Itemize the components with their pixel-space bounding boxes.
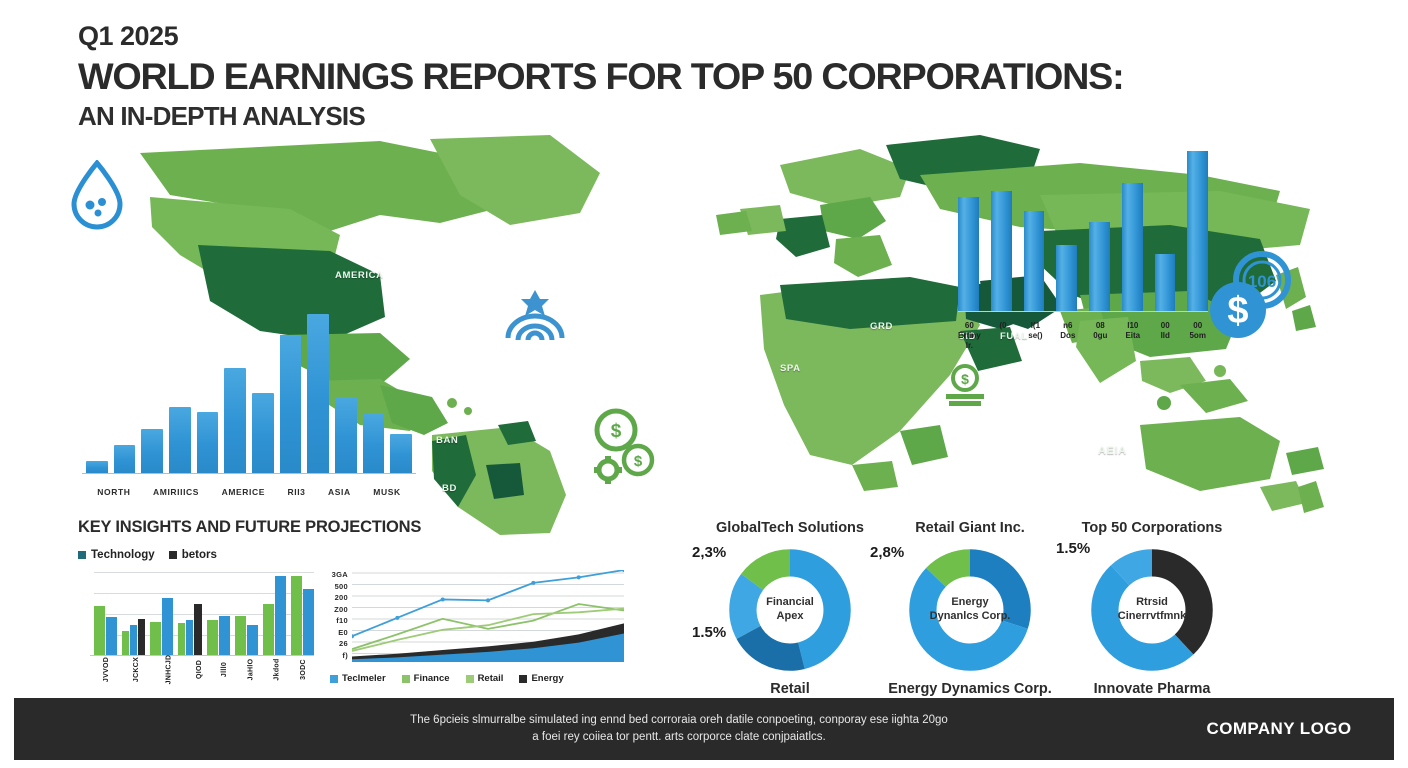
legend-swatch-icon [169, 551, 177, 559]
grouped-tick-label: JCKCX [124, 657, 149, 691]
bar-tick-label: AMIRIIICS [153, 487, 199, 497]
legend-item: Energy [519, 673, 563, 684]
y-tick-label: 500 [322, 582, 348, 591]
bar [106, 617, 117, 655]
data-point [622, 570, 624, 572]
legend-swatch-icon [330, 675, 338, 683]
legend-label: Retail [478, 673, 504, 684]
legend-label: Teclmeler [342, 673, 386, 684]
grouped-tick-labels: JVVODJCKCXJNHCJDQIODJlll0JaHlOJkdod3ODC [94, 657, 314, 691]
legend-item-betors: betors [169, 549, 217, 561]
legend-swatch-icon [519, 675, 527, 683]
bar [235, 616, 246, 655]
bar [224, 368, 246, 473]
infographic-canvas: Q1 2025 WORLD EARNINGS REPORTS FOR TOP 5… [0, 0, 1408, 768]
bar [162, 598, 173, 655]
page-title: WORLD EARNINGS REPORTS FOR TOP 50 CORPOR… [78, 56, 1251, 97]
legend-label: Technology [91, 549, 155, 561]
bar [197, 412, 219, 473]
bar [335, 397, 357, 473]
bar [94, 606, 105, 655]
bar [194, 604, 201, 655]
donut-ring [728, 548, 852, 672]
grouped-tick-label: JNHCJD [154, 657, 184, 691]
data-point [486, 598, 490, 602]
bar-tick-label: (0 [993, 321, 1013, 351]
bar [114, 445, 136, 473]
bar-tick-label: ASIA [328, 487, 351, 497]
bar [207, 620, 218, 655]
axis-baseline [90, 655, 314, 656]
y-tick-label: Z00 [322, 605, 348, 614]
bar-group [235, 568, 258, 655]
line-chart-legend: TeclmelerFinanceRetailEnergy [330, 673, 564, 684]
bar-tick-label: NORTH [97, 487, 130, 497]
bar-group [122, 568, 145, 655]
y-tick-label: E0 [322, 628, 348, 637]
donut-title: Top 50 Corporations [1062, 520, 1242, 536]
money-stack-icon: $ [938, 362, 992, 410]
bar-tick-label: 60Ertiny Ir. [958, 321, 981, 351]
data-point [395, 616, 399, 620]
bar [275, 576, 286, 655]
footer-disclaimer-line1: The 6pcieis slmurralbe simulated ing enn… [194, 712, 1164, 729]
bar [958, 197, 979, 311]
bar-tick-label: 005om [1187, 321, 1207, 351]
bar-group [94, 568, 117, 655]
page-header: Q1 2025 WORLD EARNINGS REPORTS FOR TOP 5… [78, 22, 1228, 130]
donut-annotation-top: 2,8% [870, 544, 904, 561]
svg-text:$: $ [634, 453, 643, 470]
sector-grouped-bar-chart: JVVODJCKCXJNHCJDQIODJlll0JaHlOJkdod3ODC [70, 566, 318, 691]
donut-title: Retail Giant Inc. [880, 520, 1060, 536]
coin-badge-icon: 106 $ [1200, 248, 1300, 348]
bar [141, 429, 163, 473]
bar [178, 623, 185, 655]
bar [263, 604, 274, 655]
legend-item: Retail [466, 673, 504, 684]
bar [1155, 254, 1176, 311]
bar-plot-area [958, 140, 1208, 311]
y-tick-label: f10 [322, 616, 348, 625]
bar [1056, 245, 1077, 311]
donut-title: GlobalTech Solutions [700, 520, 880, 536]
bar-group [150, 568, 173, 655]
svg-text:$: $ [611, 421, 622, 442]
donut-annotation-top: 2,3% [692, 544, 726, 561]
globaltech-donut-chart: GlobalTech Solutions Financial Apex 2,3%… [700, 520, 880, 695]
y-tick-label: 3GA [322, 570, 348, 579]
bar [247, 625, 258, 655]
donut-ring [908, 548, 1032, 672]
legend-swatch-icon [466, 675, 474, 683]
grouped-tick-label: 3ODC [293, 657, 314, 691]
grouped-plot-area [94, 568, 314, 655]
bar-group [291, 568, 314, 655]
bar-group [263, 568, 286, 655]
green-coins-gear-icon: $ $ [588, 404, 660, 488]
grouped-tick-label: JVVOD [94, 657, 119, 691]
bar [991, 191, 1012, 311]
legend-swatch-icon [78, 551, 86, 559]
key-insights-title: KEY INSIGHTS AND FUTURE PROJECTIONS [78, 518, 421, 537]
bar-tick-label: MUSK [373, 487, 400, 497]
legend-label: Energy [531, 673, 563, 684]
bar [86, 461, 108, 473]
bar [122, 631, 129, 655]
bar-plot-area [86, 300, 412, 473]
donut-annotation-top: 1.5% [1056, 540, 1090, 557]
company-logo: COMPANY LOGO [1164, 719, 1394, 739]
footer-disclaimer-line2: a foei rey coiiea tor pentt. arts corpor… [194, 729, 1164, 746]
legend-label: Finance [414, 673, 450, 684]
y-tick-label: f) [322, 651, 348, 660]
coin-badge-currency-text: $ [1227, 290, 1248, 332]
bank-icon [498, 288, 572, 350]
bar-tick-label: 080gu [1090, 321, 1110, 351]
bar [252, 393, 274, 473]
data-point [577, 575, 581, 579]
bar-tick-label: AMERICE [222, 487, 265, 497]
bar-tick-label: l10Eita [1123, 321, 1143, 351]
data-point [441, 597, 445, 601]
bar-group [207, 568, 230, 655]
bar [1122, 183, 1143, 311]
legend-item: Finance [402, 673, 450, 684]
legend-swatch-icon [402, 675, 410, 683]
y-tick-label: 200 [322, 593, 348, 602]
donut-annotation-bottom: 1.5% [692, 624, 726, 641]
bar [1089, 222, 1110, 311]
bar [169, 407, 191, 473]
axis-baseline [82, 473, 416, 475]
bar [186, 620, 193, 655]
bar [150, 622, 161, 655]
bar-tick-label: RII3 [288, 487, 306, 497]
grouped-tick-label: QIOD [189, 657, 209, 691]
data-point [531, 581, 535, 585]
legend-item-technology: Technology [78, 549, 155, 561]
bar [280, 335, 302, 473]
bar-tick-labels: NORTHAMIRIIICSAMERICERII3ASIAMUSK [86, 487, 412, 497]
grouped-tick-label: JaHlO [240, 657, 262, 691]
regional-earnings-bar-chart: NORTHAMIRIIICSAMERICERII3ASIAMUSK [78, 300, 418, 505]
bar-tick-labels: 60Ertiny Ir.(0l(1se()n6Dos080gul10Eita00… [958, 321, 1208, 351]
bar [307, 314, 329, 473]
donut-footer-label: Innovate Pharma [1062, 681, 1242, 697]
footer-disclaimer: The 6pcieis slmurralbe simulated ing enn… [14, 712, 1164, 747]
legend-item: Teclmeler [330, 673, 386, 684]
key-insights-legend: Technology betors [78, 549, 217, 561]
bar [291, 576, 302, 655]
asia-earnings-bar-chart: 60Ertiny Ir.(0l(1se()n6Dos080gul10Eita00… [958, 140, 1208, 355]
bar [138, 619, 145, 655]
axis-baseline [958, 311, 1208, 313]
footer-bar: The 6pcieis slmurralbe simulated ing enn… [14, 698, 1394, 760]
page-subtitle: AN IN-DEPTH ANALYSIS [78, 102, 1228, 131]
bar [390, 434, 412, 473]
bar [130, 625, 137, 655]
line-series [352, 570, 624, 636]
legend-label: betors [182, 549, 217, 561]
grouped-tick-label: Jkdod [266, 657, 288, 691]
grouped-tick-label: Jlll0 [214, 657, 234, 691]
bar [363, 414, 385, 474]
y-tick-label: 26 [322, 639, 348, 648]
retailgiant-donut-chart: Retail Giant Inc. Energy Dynanlcs Corp. … [880, 520, 1060, 695]
bar [219, 616, 230, 655]
bar [1024, 211, 1045, 311]
bar-tick-label: 00lld [1155, 321, 1175, 351]
donut-ring [1090, 548, 1214, 672]
bar-group [178, 568, 201, 655]
water-drop-icon [66, 160, 128, 232]
svg-text:$: $ [961, 371, 969, 387]
bar [303, 589, 314, 655]
top50-donut-chart: Top 50 Corporations Rtrsid Cinerrvtfmnk … [1062, 520, 1242, 695]
donut-footer-label: Retail [700, 681, 880, 697]
bar [1187, 151, 1208, 311]
donut-footer-label: Energy Dynamics Corp. [880, 681, 1060, 697]
bar-tick-label: n6Dos [1058, 321, 1078, 351]
header-kicker: Q1 2025 [78, 22, 1228, 50]
bar-tick-label: l(1se() [1025, 321, 1045, 351]
line-plot-area [352, 570, 624, 662]
